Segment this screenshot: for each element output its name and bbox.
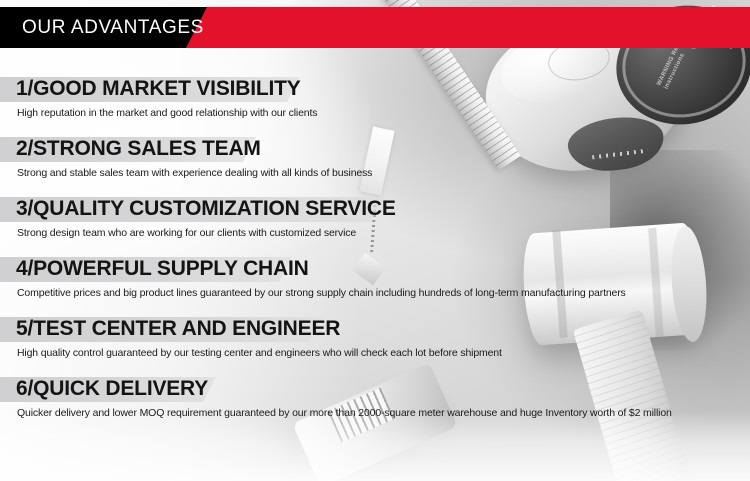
advantage-heading-4: 4/POWERFUL SUPPLY CHAIN bbox=[0, 254, 323, 284]
advantage-heading-6: 6/QUICK DELIVERY bbox=[0, 374, 222, 404]
advantages-page: WARNING Read instructions OUR ADVANTAGES… bbox=[0, 0, 750, 481]
advantage-heading-1: 1/GOOD MARKET VISIBILITY bbox=[0, 74, 315, 104]
advantage-heading-2: 2/STRONG SALES TEAM bbox=[0, 134, 275, 164]
advantage-heading-3: 3/QUALITY CUSTOMIZATION SERVICE bbox=[0, 194, 410, 224]
advantage-item-4: 4/POWERFUL SUPPLY CHAIN Competitive pric… bbox=[0, 254, 750, 314]
advantage-description-5: High quality control guaranteed by our t… bbox=[17, 347, 750, 359]
advantage-heading-wrap-3: 3/QUALITY CUSTOMIZATION SERVICE bbox=[0, 194, 410, 224]
page-title: OUR ADVANTAGES bbox=[22, 7, 204, 48]
advantage-description-1: High reputation in the market and good r… bbox=[17, 107, 750, 119]
advantage-item-6: 6/QUICK DELIVERY Quicker delivery and lo… bbox=[0, 374, 750, 430]
advantage-heading-wrap-5: 5/TEST CENTER AND ENGINEER bbox=[0, 314, 354, 344]
advantage-item-3: 3/QUALITY CUSTOMIZATION SERVICE Strong d… bbox=[0, 194, 750, 254]
advantage-item-2: 2/STRONG SALES TEAM Strong and stable sa… bbox=[0, 134, 750, 194]
advantage-item-1: 1/GOOD MARKET VISIBILITY High reputation… bbox=[0, 74, 750, 134]
advantage-description-6: Quicker delivery and lower MOQ requireme… bbox=[17, 407, 750, 419]
page-header: OUR ADVANTAGES bbox=[0, 7, 750, 48]
advantage-heading-wrap-6: 6/QUICK DELIVERY bbox=[0, 374, 222, 404]
advantage-description-2: Strong and stable sales team with experi… bbox=[17, 167, 750, 179]
advantage-heading-wrap-2: 2/STRONG SALES TEAM bbox=[0, 134, 275, 164]
advantages-list: 1/GOOD MARKET VISIBILITY High reputation… bbox=[0, 74, 750, 430]
advantage-heading-wrap-1: 1/GOOD MARKET VISIBILITY bbox=[0, 74, 315, 104]
advantage-item-5: 5/TEST CENTER AND ENGINEER High quality … bbox=[0, 314, 750, 374]
advantage-heading-wrap-4: 4/POWERFUL SUPPLY CHAIN bbox=[0, 254, 323, 284]
advantage-description-4: Competitive prices and big product lines… bbox=[17, 287, 750, 299]
advantage-heading-5: 5/TEST CENTER AND ENGINEER bbox=[0, 314, 354, 344]
advantage-description-3: Strong design team who are working for o… bbox=[17, 227, 750, 239]
